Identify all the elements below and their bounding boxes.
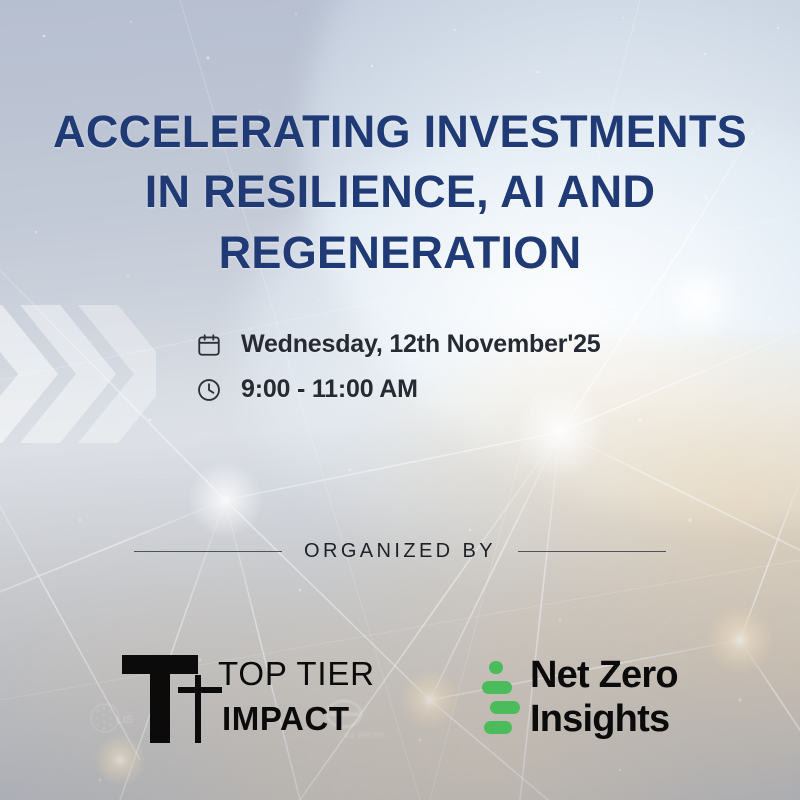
event-date-text: Wednesday, 12th November'25 xyxy=(241,330,600,359)
clock-icon xyxy=(196,377,222,403)
divider-left xyxy=(134,551,282,552)
logo-line-net-zero: Net Zero xyxy=(530,653,678,697)
net-zero-insights-bars-icon xyxy=(478,659,520,743)
logo-top-tier-impact[interactable]: TOP TIER IMPACT xyxy=(118,645,418,755)
organized-by-label: ORGANIZED BY xyxy=(304,540,496,563)
event-poster: ACCELERATING INVESTMENTS IN RESILIENCE, … xyxy=(0,0,800,800)
organized-by-section: ORGANIZED BY xyxy=(0,540,800,563)
event-time-row: 9:00 - 11:00 AM xyxy=(196,375,600,404)
event-title: ACCELERATING INVESTMENTS IN RESILIENCE, … xyxy=(0,102,800,283)
logo-line-insights: Insights xyxy=(530,697,678,741)
chevron-decoration xyxy=(0,305,156,443)
event-time-text: 9:00 - 11:00 AM xyxy=(241,375,418,404)
top-tier-impact-wordmark: TOP TIER IMPACT xyxy=(218,657,375,735)
title-line-3: REGENERATION xyxy=(0,223,800,283)
title-line-1: ACCELERATING INVESTMENTS xyxy=(0,102,800,162)
title-line-2: IN RESILIENCE, AI AND xyxy=(0,162,800,222)
organizer-logos: TOP TIER IMPACT Net Zero Insights xyxy=(0,645,800,755)
divider-right xyxy=(518,551,666,552)
calendar-icon xyxy=(196,332,222,358)
event-date-row: Wednesday, 12th November'25 xyxy=(196,330,600,359)
logo-line-impact: IMPACT xyxy=(222,702,375,735)
net-zero-insights-wordmark: Net Zero Insights xyxy=(530,653,678,741)
event-details: Wednesday, 12th November'25 9:00 - 11:00… xyxy=(196,330,600,404)
top-tier-impact-monogram-icon xyxy=(118,649,228,749)
logo-line-top-tier: TOP TIER xyxy=(218,657,375,690)
logo-net-zero-insights[interactable]: Net Zero Insights xyxy=(478,649,778,755)
